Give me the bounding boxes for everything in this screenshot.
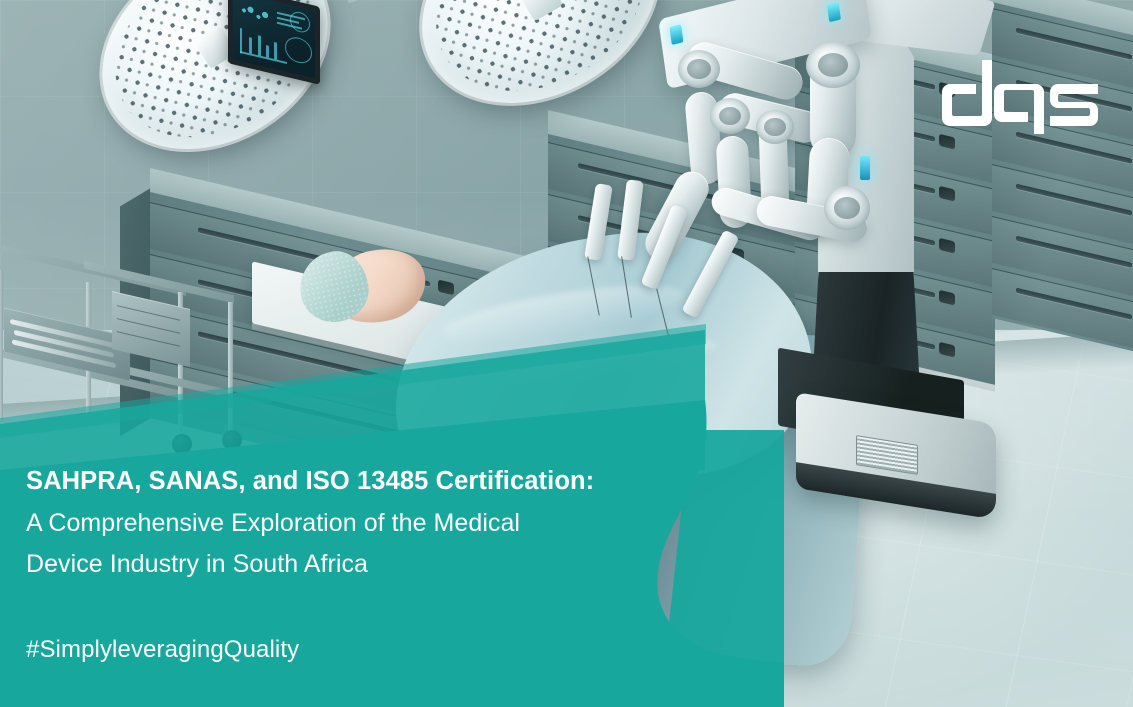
page-title: SAHPRA, SANAS, and ISO 13485 Certificati… (26, 462, 726, 501)
logo-letter-q (994, 84, 1044, 134)
robot-status-led (860, 156, 870, 180)
overlay-copy: SAHPRA, SANAS, and ISO 13485 Certificati… (26, 462, 726, 586)
cart-leg (0, 270, 3, 422)
robot-arm-joint (710, 98, 750, 134)
instrument-needle (587, 256, 599, 315)
robot-arm-joint (756, 110, 794, 144)
cart-leg (228, 302, 233, 440)
cart-caster (222, 430, 242, 450)
banner-root: SAHPRA, SANAS, and ISO 13485 Certificati… (0, 0, 1133, 707)
robot-head-led (669, 24, 683, 45)
subtitle-line-1: A Comprehensive Exploration of the Medic… (26, 503, 726, 545)
dqs-logo[interactable] (930, 58, 1105, 134)
logo-letter-s (1050, 84, 1098, 126)
logo-letter-d (942, 60, 992, 126)
monitor-world-map (238, 1, 271, 29)
robot-instrument (584, 183, 613, 261)
robot-instrument (617, 179, 644, 260)
monitor-screen (233, 0, 315, 79)
instrument-needle (621, 256, 632, 317)
monitor-gauge (285, 35, 312, 66)
robot-instrument (681, 229, 739, 318)
cart-caster (172, 434, 192, 454)
robot-arm-joint (824, 186, 870, 230)
hashtag: #SimplyleveragingQuality (26, 636, 299, 664)
robot-head-led (827, 1, 841, 22)
instrument-needle (656, 289, 669, 336)
subtitle-line-2: Device Industry in South Africa (26, 544, 726, 586)
robot-arm-joint (806, 42, 860, 88)
monitor-gauge (290, 10, 310, 34)
robot-arm-joint (678, 50, 720, 88)
